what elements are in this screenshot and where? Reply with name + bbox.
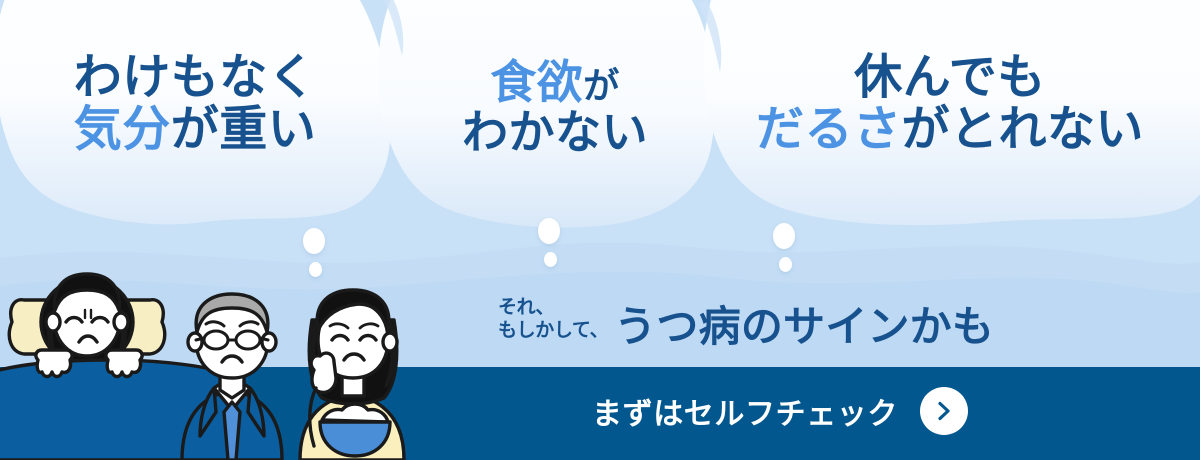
bubble2-line1-rest: が — [583, 66, 619, 107]
thought-dot-small-2 — [544, 252, 557, 267]
self-check-button[interactable]: まずはセルフチェック — [592, 387, 968, 435]
bubble-text-no-reason-heavy-mood: わけもなく 気分が重い — [30, 52, 360, 156]
thought-dot-large-2 — [538, 218, 560, 244]
headline: それ、 もしかして、 うつ病のサインかも — [498, 296, 994, 348]
bubble1-line2-rest: が重い — [171, 101, 316, 157]
bubble1-line1: わけもなく — [30, 52, 360, 104]
headline-main-text: うつ病のサインかも — [614, 306, 994, 348]
bubble-text-no-appetite: 食欲が わかない — [405, 58, 705, 157]
chevron-right-icon[interactable] — [920, 387, 968, 435]
bubble2-line2: わかない — [405, 108, 705, 158]
bubble2-line1-highlight: 食欲 — [490, 55, 583, 109]
bubble-text-tiredness-remains: 休んでも だるさがとれない — [715, 52, 1185, 156]
illustration-three-people — [0, 260, 470, 460]
bubble3-line2: だるさがとれない — [715, 104, 1185, 156]
thought-dot-large-3 — [773, 223, 795, 249]
headline-small-line2: もしかして、 — [498, 319, 608, 342]
thought-dot-large-1 — [303, 228, 325, 254]
headline-small-text: それ、 もしかして、 — [498, 296, 608, 348]
thought-dot-small-3 — [779, 257, 792, 272]
bubble1-line2-highlight: 気分 — [74, 101, 171, 157]
bubble2-line1: 食欲が — [405, 58, 705, 108]
headline-small-line1: それ、 — [498, 296, 608, 319]
bubble3-line1: 休んでも — [715, 52, 1185, 104]
self-check-button-label: まずはセルフチェック — [592, 389, 898, 433]
bubble1-line2: 気分が重い — [30, 104, 360, 156]
bubble3-line2-rest: がとれない — [902, 101, 1144, 157]
depression-self-check-banner: わけもなく 気分が重い 食欲が わかない 休んでも だるさがとれない それ、 も… — [0, 0, 1200, 460]
bubble3-line2-highlight: だるさ — [756, 101, 901, 157]
